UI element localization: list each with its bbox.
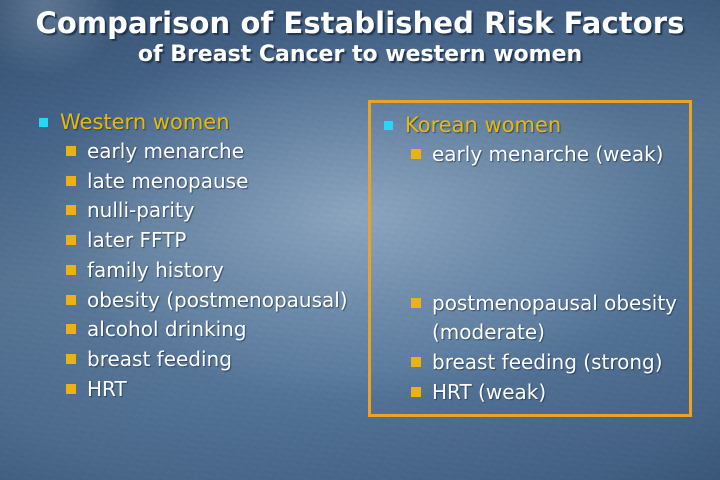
list-item-label: family history [87, 258, 224, 282]
square-bullet-icon [411, 298, 421, 308]
list-item[interactable]: HRT (weak) [371, 377, 546, 407]
list-item-label: breast feeding (strong) [432, 350, 663, 374]
list-item[interactable]: alcohol drinking [26, 314, 247, 344]
list-heading-western[interactable]: Western women [26, 107, 230, 137]
list-item-label: alcohol drinking [87, 317, 247, 341]
list-item-continuation: (moderate) [371, 317, 545, 347]
list-item[interactable]: later FFTP [26, 225, 186, 255]
column-korean-women: Korean womenearly menarche (weak)postmen… [368, 100, 692, 417]
list-item[interactable]: early menarche (weak) [371, 139, 663, 169]
list-heading-label: Korean women [405, 113, 561, 137]
square-bullet-icon [66, 384, 76, 394]
list-item[interactable]: obesity (postmenopausal) [26, 285, 348, 315]
list-item[interactable]: breast feeding (strong) [371, 347, 663, 377]
square-bullet-icon [384, 121, 393, 130]
list-item-label: (moderate) [432, 320, 545, 344]
list-item-label: HRT (weak) [432, 380, 546, 404]
slide-content: Comparison of Established Risk Factors o… [0, 0, 720, 480]
square-bullet-icon [66, 265, 76, 275]
square-bullet-icon [411, 357, 421, 367]
square-bullet-icon [66, 324, 76, 334]
list-item[interactable]: postmenopausal obesity [371, 288, 677, 318]
square-bullet-icon [66, 176, 76, 186]
square-bullet-icon [39, 118, 48, 127]
list-item-label: postmenopausal obesity [432, 291, 677, 315]
list-item[interactable]: HRT [26, 374, 127, 404]
list-item-label: nulli-parity [87, 198, 195, 222]
list-item-label: early menarche [87, 139, 244, 163]
list-item-label: breast feeding [87, 347, 232, 371]
list-item[interactable]: early menarche [26, 136, 244, 166]
list-item-label: later FFTP [87, 228, 186, 252]
slide-canvas: Comparison of Established Risk Factors o… [0, 0, 720, 480]
page-title: Comparison of Established Risk Factors [0, 6, 720, 41]
list-item[interactable]: breast feeding [26, 344, 232, 374]
list-item[interactable]: family history [26, 255, 224, 285]
square-bullet-icon [66, 146, 76, 156]
square-bullet-icon [66, 354, 76, 364]
slide-title-block: Comparison of Established Risk Factors o… [0, 6, 720, 69]
square-bullet-icon [66, 235, 76, 245]
square-bullet-icon [411, 387, 421, 397]
list-item[interactable]: late menopause [26, 166, 248, 196]
list-heading-label: Western women [60, 110, 230, 134]
list-item-label: early menarche (weak) [432, 142, 663, 166]
list-item-label: obesity (postmenopausal) [87, 288, 348, 312]
list-item-label: HRT [87, 377, 127, 401]
list-item-label: late menopause [87, 169, 248, 193]
square-bullet-icon [411, 149, 421, 159]
square-bullet-icon [66, 295, 76, 305]
list-item[interactable]: nulli-parity [26, 195, 195, 225]
list-heading-korean[interactable]: Korean women [371, 110, 561, 140]
square-bullet-icon [66, 205, 76, 215]
page-subtitle: of Breast Cancer to western women [0, 41, 720, 69]
